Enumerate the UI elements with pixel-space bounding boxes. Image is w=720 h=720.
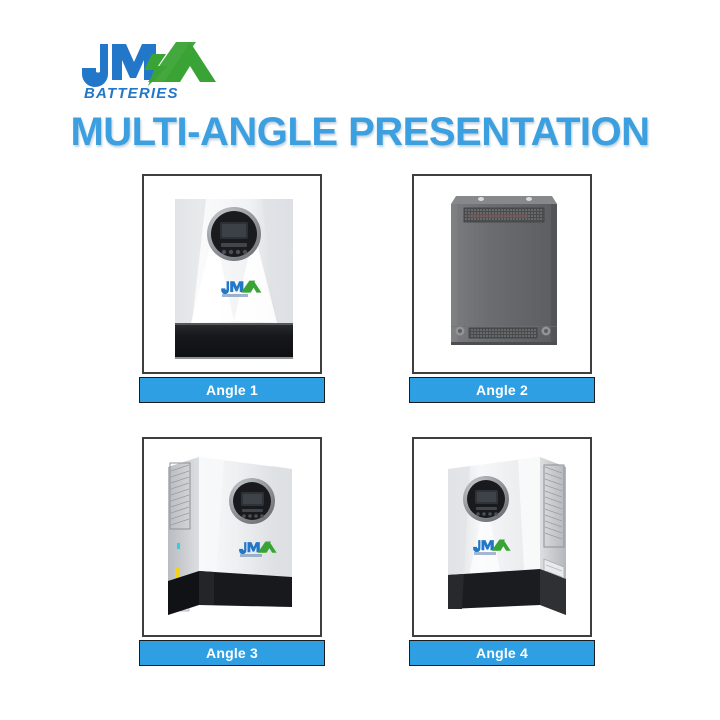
svg-text:BATTERIES: BATTERIES	[84, 85, 179, 102]
angle-label-2: Angle 2	[409, 377, 595, 403]
product-image-frame-3	[142, 437, 322, 637]
angle-card-1[interactable]: Angle 1	[142, 174, 325, 403]
inverter-right-angle-view-image	[414, 439, 592, 637]
multi-angle-presentation-page: BATTERIES MULTI-ANGLE PRESENTATION	[0, 0, 720, 720]
product-image-frame-4	[412, 437, 592, 637]
angle-card-3[interactable]: Angle 3	[142, 437, 325, 666]
page-title: MULTI-ANGLE PRESENTATION	[0, 110, 720, 155]
jm-batteries-logo: BATTERIES	[78, 40, 238, 102]
inverter-left-angle-view-image	[144, 439, 322, 637]
angle-label-3: Angle 3	[139, 640, 325, 666]
inverter-back-view-image	[414, 176, 592, 374]
inverter-front-view-image	[144, 176, 322, 374]
product-image-frame-1	[142, 174, 322, 374]
angle-card-2[interactable]: Angle 2	[412, 174, 595, 403]
angle-label-4: Angle 4	[409, 640, 595, 666]
angle-card-4[interactable]: Angle 4	[412, 437, 595, 666]
angle-label-1: Angle 1	[139, 377, 325, 403]
product-image-frame-2	[412, 174, 592, 374]
